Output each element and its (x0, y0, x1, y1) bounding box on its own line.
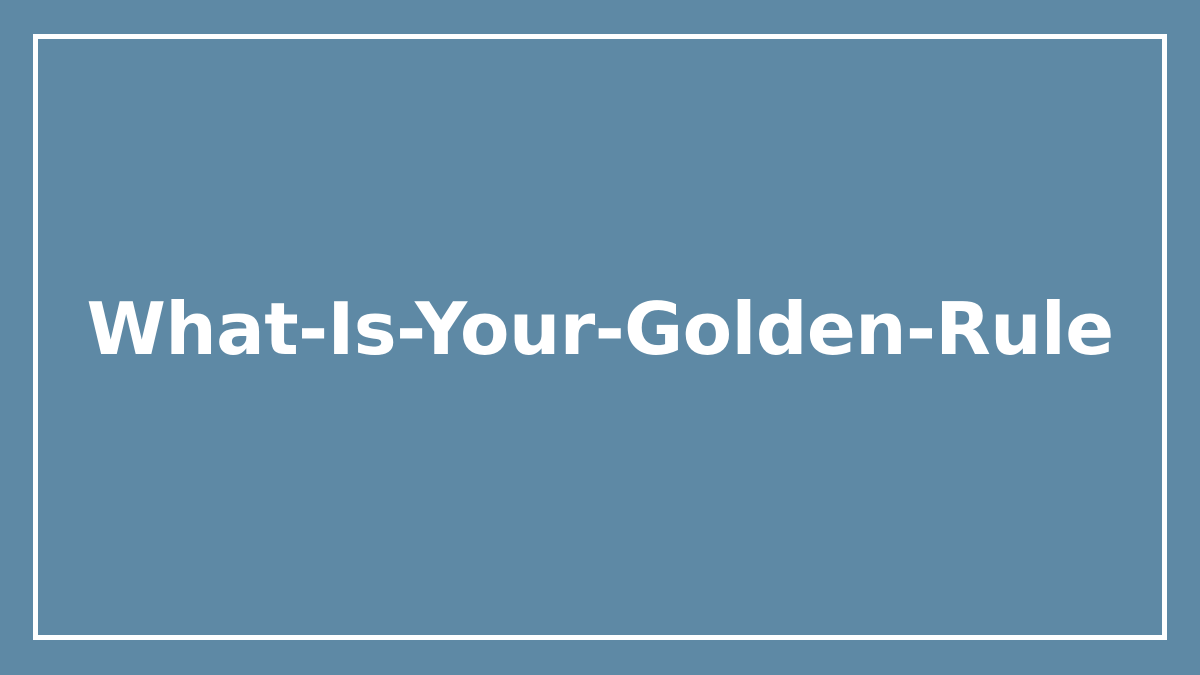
banner-content: What-Is-Your-Golden-Rule (0, 0, 1200, 675)
banner-canvas: What-Is-Your-Golden-Rule (0, 0, 1200, 675)
banner-title: What-Is-Your-Golden-Rule (86, 288, 1113, 371)
